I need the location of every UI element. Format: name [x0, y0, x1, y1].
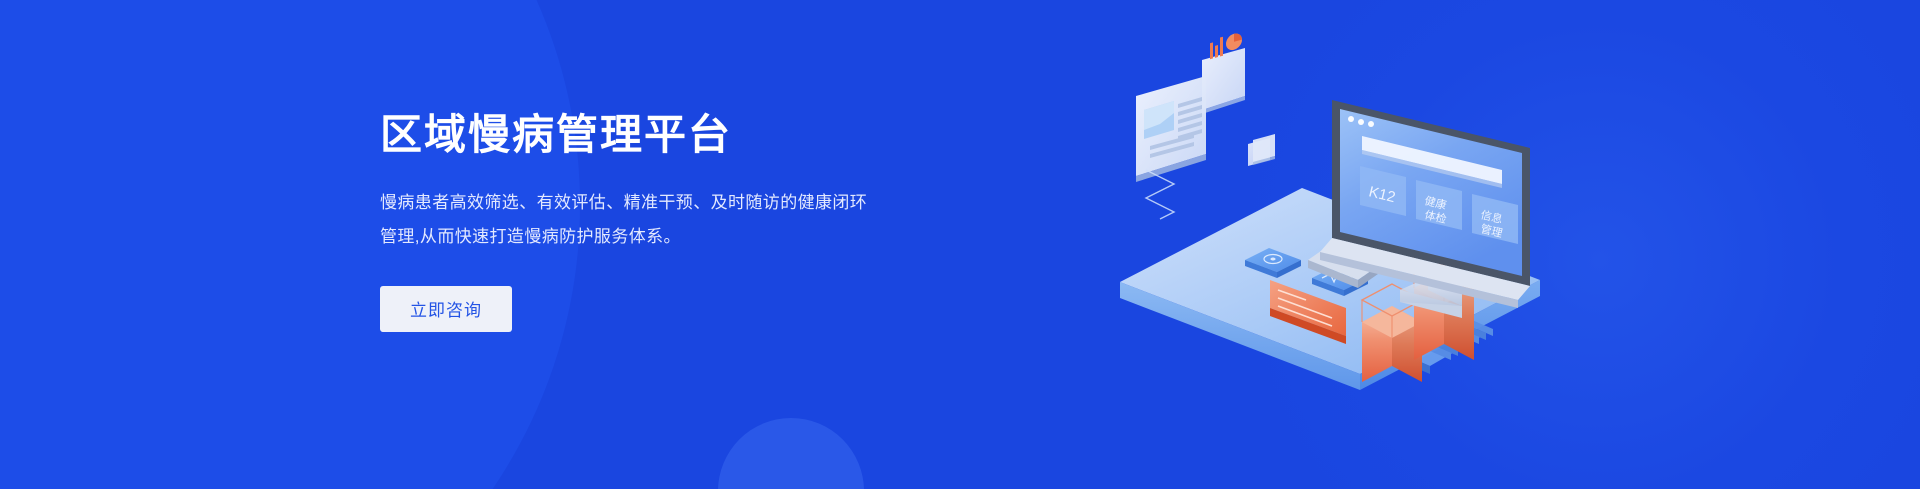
floating-small-card [1248, 134, 1275, 166]
isometric-health-platform-illustration: K12 健康 体检 信息 管理 [1110, 18, 1590, 478]
page-title: 区域慢病管理平台 [380, 110, 1040, 160]
consult-now-button[interactable]: 立即咨询 [380, 286, 512, 332]
hero-subtitle: 慢病患者高效筛选、有效评估、精准干预、及时随访的健康闭环 管理,从而快速打造慢病… [380, 186, 1000, 254]
floating-chart-card [1202, 32, 1245, 114]
decorative-circle-bottom [718, 418, 864, 489]
hero-subtitle-line-1: 慢病患者高效筛选、有效评估、精准干预、及时随访的健康闭环 [380, 186, 1000, 220]
hero-subtitle-line-2: 管理,从而快速打造慢病防护服务体系。 [380, 220, 1000, 254]
floating-document-card [1136, 76, 1206, 182]
hero-content: 区域慢病管理平台 慢病患者高效筛选、有效评估、精准干预、及时随访的健康闭环 管理… [380, 110, 1040, 332]
hero-banner: 区域慢病管理平台 慢病患者高效筛选、有效评估、精准干预、及时随访的健康闭环 管理… [0, 0, 1920, 489]
